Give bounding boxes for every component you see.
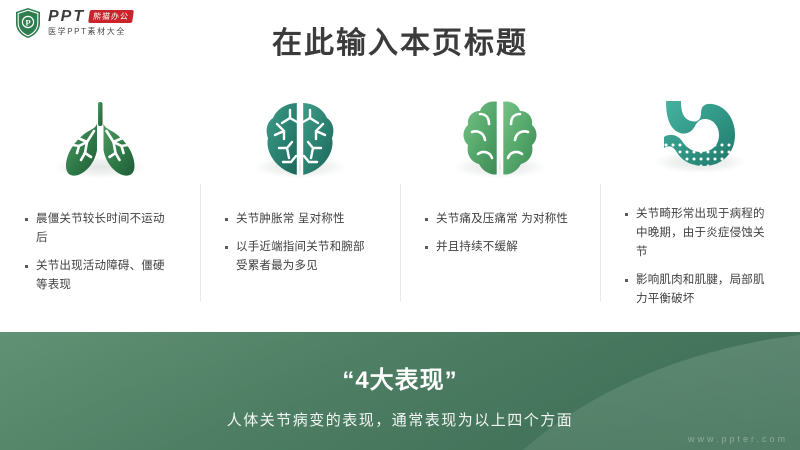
bullet-item: 关节出现活动障碍、僵硬等表现 — [25, 257, 175, 295]
bullet-item: 影响肌肉和肌腱，局部肌力平衡破坏 — [625, 271, 775, 309]
brain-icon — [245, 88, 355, 180]
content-columns: 晨僵关节较长时间不运动后 关节出现活动障碍、僵硬等表现 — [0, 88, 800, 318]
lungs-icon — [45, 88, 155, 180]
bullet-item: 关节肿胀常 呈对称性 — [225, 210, 375, 229]
bullet-item: 以手近端指间关节和腕部受累者最为多见 — [225, 238, 375, 276]
footer-watermark: www.ppter.com — [688, 434, 788, 444]
bullet-item: 关节畸形常出现于病程的中晚期，由于炎症侵蚀关节 — [625, 205, 775, 262]
bullet-list-3: 关节痛及压痛常 为对称性 并且持续不缓解 — [425, 210, 575, 266]
banner-title: “4大表现” — [0, 360, 800, 395]
bottom-banner: “4大表现” 人体关节病变的表现，通常表现为以上四个方面 www.ppter.c… — [0, 332, 800, 450]
bullet-list-4: 关节畸形常出现于病程的中晚期，由于炎症侵蚀关节 影响肌肉和肌腱，局部肌力平衡破坏 — [625, 205, 775, 318]
bullet-item: 并且持续不缓解 — [425, 238, 575, 257]
column-4: 关节畸形常出现于病程的中晚期，由于炎症侵蚀关节 影响肌肉和肌腱，局部肌力平衡破坏 — [600, 88, 800, 318]
bullet-item: 关节痛及压痛常 为对称性 — [425, 210, 575, 229]
bullet-item: 晨僵关节较长时间不运动后 — [25, 210, 175, 248]
brain-lobes-icon — [445, 88, 555, 180]
column-1: 晨僵关节较长时间不运动后 关节出现活动障碍、僵硬等表现 — [0, 88, 200, 318]
bullet-list-1: 晨僵关节较长时间不运动后 关节出现活动障碍、僵硬等表现 — [25, 210, 175, 304]
slide-canvas: P PPT 熊猫办公 医学PPT素材大全 在此输入本页标题 — [0, 0, 800, 450]
bullet-list-2: 关节肿胀常 呈对称性 以手近端指间关节和腕部受累者最为多见 — [225, 210, 375, 285]
page-title: 在此输入本页标题 — [0, 18, 800, 62]
stomach-icon — [645, 88, 755, 175]
column-3: 关节痛及压痛常 为对称性 并且持续不缓解 — [400, 88, 600, 318]
column-2: 关节肿胀常 呈对称性 以手近端指间关节和腕部受累者最为多见 — [200, 88, 400, 318]
banner-subtitle: 人体关节病变的表现，通常表现为以上四个方面 — [0, 409, 800, 430]
banner-content: “4大表现” 人体关节病变的表现，通常表现为以上四个方面 — [0, 360, 800, 430]
